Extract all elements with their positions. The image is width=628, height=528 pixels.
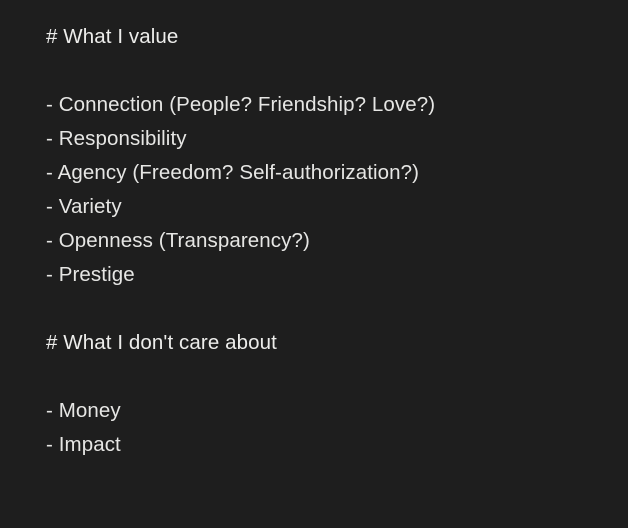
list-item-openness: - Openness (Transparency?) — [46, 224, 604, 258]
note-surface: # What I value - Connection (People? Fri… — [0, 0, 628, 528]
list-item-variety: - Variety — [46, 190, 604, 224]
list-item-impact: - Impact — [46, 428, 604, 462]
heading-what-i-value: # What I value — [46, 20, 604, 54]
note-text-body[interactable]: # What I value - Connection (People? Fri… — [46, 20, 604, 462]
blank-line — [46, 54, 604, 88]
list-item-responsibility: - Responsibility — [46, 122, 604, 156]
heading-what-i-dont-care-about: # What I don't care about — [46, 326, 604, 360]
list-item-connection: - Connection (People? Friendship? Love?) — [46, 88, 604, 122]
list-item-agency: - Agency (Freedom? Self-authorization?) — [46, 156, 604, 190]
blank-line — [46, 360, 604, 394]
blank-line — [46, 292, 604, 326]
list-item-prestige: - Prestige — [46, 258, 604, 292]
list-item-money: - Money — [46, 394, 604, 428]
